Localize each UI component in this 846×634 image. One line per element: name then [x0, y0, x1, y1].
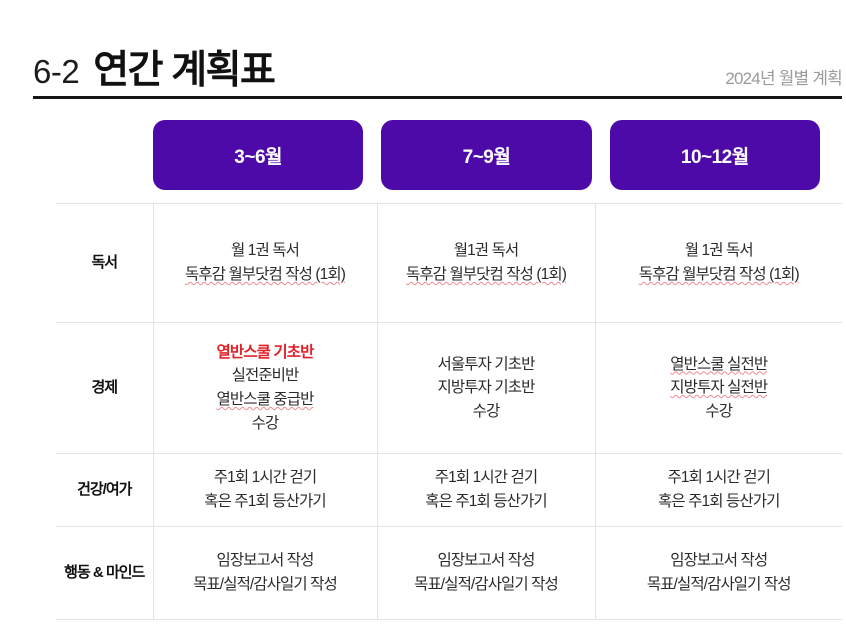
- row-label-health: 건강/여가: [56, 454, 153, 527]
- cell-line: 수강: [378, 400, 595, 424]
- annual-plan-table: 독서 월 1권 독서 독후감 월부닷컴 작성 (1회) 월1권 독서 독후감 월…: [56, 203, 842, 620]
- column-header-pill-1[interactable]: 3~6월: [153, 120, 363, 190]
- cell-line: 목표/실적/감사일기 작성: [154, 573, 377, 597]
- table-row: 건강/여가 주1회 1시간 걷기 혹은 주1회 등산가기 주1회 1시간 걷기 …: [56, 454, 842, 527]
- cell-action-q3: 임장보고서 작성 목표/실적/감사일기 작성: [595, 527, 842, 620]
- cell-action-q2: 임장보고서 작성 목표/실적/감사일기 작성: [377, 527, 595, 620]
- table-row: 행동 & 마인드 임장보고서 작성 목표/실적/감사일기 작성 임장보고서 작성…: [56, 527, 842, 620]
- table-row: 경제 열반스쿨 기초반 실전준비반 열반스쿨 중급반 수강 서울투자 기초반 지…: [56, 323, 842, 454]
- row-label-line: &: [93, 564, 103, 581]
- cell-reading-q3: 월 1권 독서 독후감 월부닷컴 작성 (1회): [595, 204, 842, 323]
- header-divider-rule: [33, 96, 842, 99]
- cell-line: 열반스쿨 중급반: [154, 388, 377, 412]
- cell-line: 혹은 주1회 등산가기: [378, 490, 595, 514]
- row-label-reading: 독서: [56, 204, 153, 323]
- plan-table-body: 독서 월 1권 독서 독후감 월부닷컴 작성 (1회) 월1권 독서 독후감 월…: [56, 204, 842, 620]
- cell-line: 임장보고서 작성: [378, 549, 595, 573]
- spellcheck-text: 독후감 월부닷컴 작성 (1회): [185, 266, 345, 283]
- cell-line: 독후감 월부닷컴 작성 (1회): [154, 263, 377, 287]
- cell-action-q1: 임장보고서 작성 목표/실적/감사일기 작성: [153, 527, 377, 620]
- spellcheck-text: 열반스쿨 중급반: [217, 391, 314, 408]
- cell-line: 월 1권 독서: [154, 239, 377, 263]
- cell-line: 목표/실적/감사일기 작성: [596, 573, 843, 597]
- cell-line: 주1회 1시간 걷기: [378, 466, 595, 490]
- cell-line: 주1회 1시간 걷기: [596, 466, 843, 490]
- cell-health-q1: 주1회 1시간 걷기 혹은 주1회 등산가기: [153, 454, 377, 527]
- cell-line: 목표/실적/감사일기 작성: [378, 573, 595, 597]
- cell-health-q3: 주1회 1시간 걷기 혹은 주1회 등산가기: [595, 454, 842, 527]
- cell-line: 실전준비반: [154, 364, 377, 388]
- cell-line: 수강: [154, 412, 377, 436]
- spellcheck-text: 독후감 월부닷컴 작성 (1회): [406, 266, 566, 283]
- cell-line: 주1회 1시간 걷기: [154, 466, 377, 490]
- cell-line: 월 1권 독서: [596, 239, 843, 263]
- column-header-pill-3[interactable]: 10~12월: [610, 120, 820, 190]
- cell-line: 임장보고서 작성: [154, 549, 377, 573]
- slide-canvas: 6-2 연간 계획표 2024년 월별 계획 3~6월 7~9월 10~12월 …: [0, 0, 846, 634]
- row-label-line: 마인드: [106, 564, 144, 581]
- row-label-economy: 경제: [56, 323, 153, 454]
- cell-line: 임장보고서 작성: [596, 549, 843, 573]
- spellcheck-text: 열반스쿨 실전반: [670, 356, 767, 373]
- cell-economy-q3: 열반스쿨 실전반 지방투자 실전반 수강: [595, 323, 842, 454]
- spellcheck-text: 지방투자 실전반: [670, 379, 767, 396]
- cell-line: 서울투자 기초반: [378, 353, 595, 377]
- row-label-line: 경제: [91, 379, 117, 396]
- cell-line: 독후감 월부닷컴 작성 (1회): [378, 263, 595, 287]
- column-header-pill-2[interactable]: 7~9월: [381, 120, 591, 190]
- cell-line: 혹은 주1회 등산가기: [154, 490, 377, 514]
- cell-line: 열반스쿨 실전반: [596, 353, 843, 377]
- table-row: 독서 월 1권 독서 독후감 월부닷컴 작성 (1회) 월1권 독서 독후감 월…: [56, 204, 842, 323]
- cell-reading-q2: 월1권 독서 독후감 월부닷컴 작성 (1회): [377, 204, 595, 323]
- cell-line: 지방투자 실전반: [596, 376, 843, 400]
- title-index: 6-2: [33, 55, 79, 88]
- page-title: 6-2 연간 계획표: [33, 51, 274, 90]
- cell-health-q2: 주1회 1시간 걷기 혹은 주1회 등산가기: [377, 454, 595, 527]
- cell-economy-q2: 서울투자 기초반 지방투자 기초반 수강: [377, 323, 595, 454]
- title-subtitle: 2024년 월별 계획: [725, 70, 842, 90]
- cell-line: 혹은 주1회 등산가기: [596, 490, 843, 514]
- row-label-line: 행동: [64, 564, 90, 581]
- cell-line: 월1권 독서: [378, 239, 595, 263]
- row-label-line: 건강/여가: [77, 481, 131, 498]
- slide-header: 6-2 연간 계획표 2024년 월별 계획: [33, 28, 842, 90]
- cell-economy-q1: 열반스쿨 기초반 실전준비반 열반스쿨 중급반 수강: [153, 323, 377, 454]
- cell-line: 독후감 월부닷컴 작성 (1회): [596, 263, 843, 287]
- cell-line-highlighted: 열반스쿨 기초반: [154, 341, 377, 365]
- title-text: 연간 계획표: [93, 51, 274, 90]
- cell-reading-q1: 월 1권 독서 독후감 월부닷컴 작성 (1회): [153, 204, 377, 323]
- cell-line: 수강: [596, 400, 843, 424]
- row-label-line: 독서: [91, 254, 117, 271]
- cell-line: 지방투자 기초반: [378, 376, 595, 400]
- row-label-action-mind: 행동 & 마인드: [56, 527, 153, 620]
- column-header-pills: 3~6월 7~9월 10~12월: [153, 120, 820, 190]
- spellcheck-text: 독후감 월부닷컴 작성 (1회): [639, 266, 799, 283]
